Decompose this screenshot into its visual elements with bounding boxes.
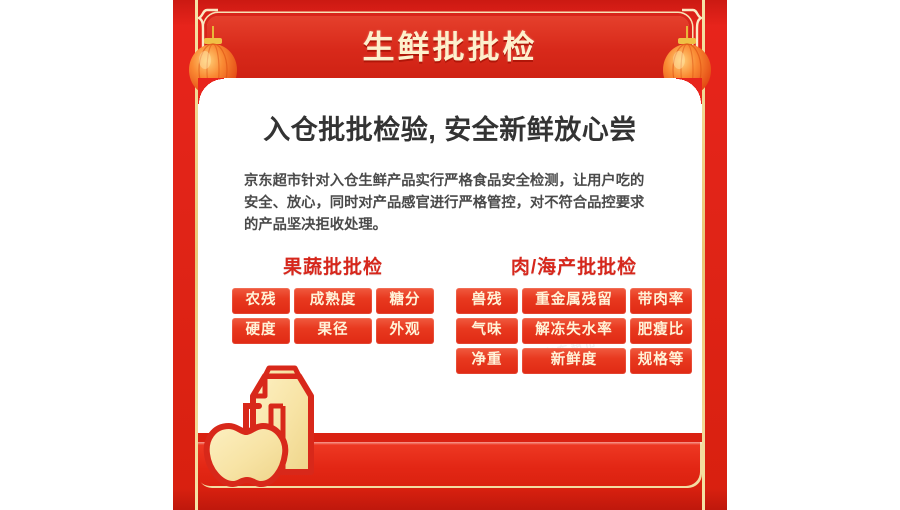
tag-row: 气味 解冻失水率 肥瘦比	[454, 318, 694, 344]
tag-chip[interactable]: 肥瘦比	[630, 318, 692, 344]
tag-chip[interactable]: 新鲜度	[522, 348, 626, 374]
tag-chip[interactable]: 外观	[376, 318, 434, 344]
column-fruit-vegetable: 果蔬批批检 农残 成熟度 糖分 硬度 果径 外观	[222, 252, 444, 348]
tag-chip[interactable]: 净重	[456, 348, 518, 374]
tag-row: 净重 新鲜度 规格等	[454, 348, 694, 374]
poster-card: 生鲜批批检	[173, 0, 727, 510]
page-title: 入仓批批检验, 安全新鲜放心尝	[198, 108, 702, 147]
tag-chip[interactable]: 兽残	[456, 288, 518, 314]
bottom-gradient-overlay	[173, 488, 727, 510]
tag-chip[interactable]: 农残	[232, 288, 290, 314]
column-meat-seafood: 肉/海产批批检 兽残 重金属残留 带肉率 气味 解冻失水率 肥瘦比 净重 新鲜度…	[454, 252, 694, 378]
description-text: 京东超市针对入仓生鲜产品实行严格食品安全检测，让用户吃的安全、放心，同时对产品感…	[244, 170, 658, 236]
product-illustration	[203, 362, 393, 488]
tag-chip[interactable]: 硬度	[232, 318, 290, 344]
tag-row: 兽残 重金属残留 带肉率	[454, 288, 694, 314]
tag-chip[interactable]: 解冻失水率	[522, 318, 626, 344]
column-title: 果蔬批批检	[222, 252, 444, 279]
tag-chip[interactable]: 带肉率	[630, 288, 692, 314]
tag-chip[interactable]: 果径	[294, 318, 372, 344]
banner-title-text: 生鲜批批检	[173, 14, 727, 76]
tag-row: 硬度 果径 外观	[222, 318, 444, 344]
tag-chip[interactable]: 重金属残留	[522, 288, 626, 314]
title-banner: 生鲜批批检	[173, 14, 727, 84]
tag-row: 农残 成熟度 糖分	[222, 288, 444, 314]
tag-chip[interactable]: 糖分	[376, 288, 434, 314]
panel-corner-top-left	[198, 78, 224, 104]
panel-corner-top-right	[676, 78, 702, 104]
tag-chip[interactable]: 成熟度	[294, 288, 372, 314]
tag-chip[interactable]: 气味	[456, 318, 518, 344]
tag-chip[interactable]: 规格等	[630, 348, 692, 374]
column-title: 肉/海产批批检	[454, 252, 694, 279]
